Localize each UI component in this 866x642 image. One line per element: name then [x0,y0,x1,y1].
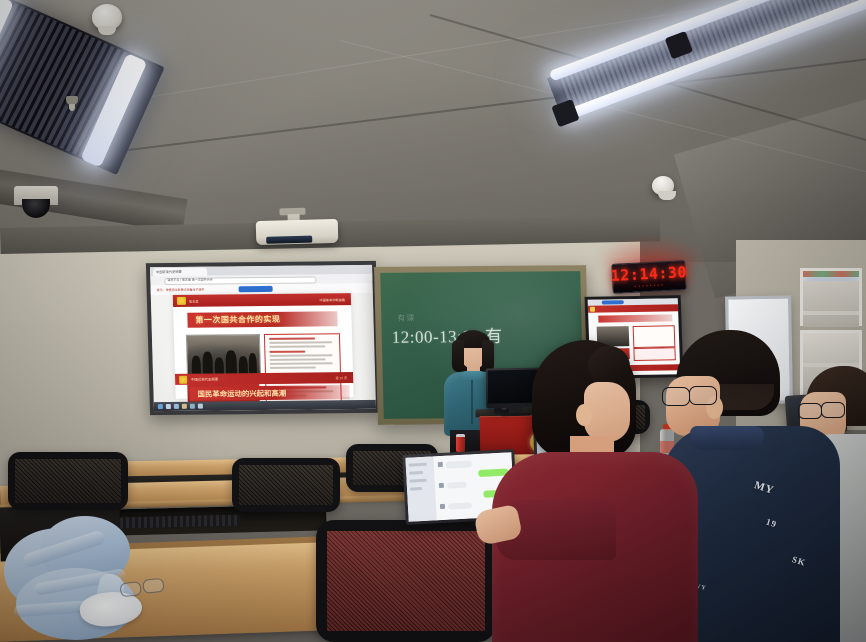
led-wall-clock: 12:14:30 ∙∙∙∙∙∙∙∙ [611,260,686,294]
browser-tab-label: 中国近现代史纲要 [156,269,182,274]
browser-notice-text: 提示：请使用全屏模式观看本节课件 [157,287,205,292]
chair[interactable] [8,452,128,510]
sprinkler-icon [66,96,78,105]
chair[interactable] [232,458,340,512]
slide-banner-left: 第五章 [189,298,199,303]
smoke-detector-icon [92,4,122,30]
jacket-on-desk [4,516,164,640]
party-emblem-icon [177,297,186,305]
dome-camera-icon [14,186,58,220]
slide-footer-left: 中国近现代史纲要 [191,376,218,381]
projection-screen[interactable]: 中国近现代史纲要 课程平台 / 第五章 第一次国共合作 提示：请使用全屏模式观看… [146,261,380,415]
projected-taskbar[interactable] [154,400,376,411]
window-trim [803,271,859,277]
slide-document: 第五章 中国革命的新道路 第一次国共合作的实现 中国国民党第一次全国代表大会会场 [173,293,354,399]
browser-url-text: 课程平台 / 第五章 第一次国共合作 [167,278,212,282]
clock-time-display: 12:14:30 [610,265,687,284]
start-lesson-button[interactable] [239,286,273,292]
slide-next-title: 国民革命运动的兴起和高潮 [189,385,349,401]
slide-banner-right: 中国革命的新道路 [319,297,345,302]
beverage-can [456,434,465,452]
clock-seconds-dots: ∙∙∙∙∙∙∙∙ [634,282,665,289]
classroom-scene: 中国近现代史纲要 课程平台 / 第五章 第一次国共合作 提示：请使用全屏模式观看… [0,0,866,642]
chair[interactable] [316,520,496,642]
smoke-detector-icon [652,176,674,195]
party-emblem-icon [179,375,187,383]
window-upper-right [800,268,862,326]
projector-icon [250,213,343,249]
slide-top-banner: 第五章 中国革命的新道路 [173,293,351,307]
slide-title: 第一次国共合作的实现 [187,311,337,328]
student-maroon-top [492,340,702,642]
slide-footer-banner: 中国近现代史纲要 第 12 页 [175,372,353,385]
projected-browser-window: 中国近现代史纲要 课程平台 / 第五章 第一次国共合作 提示：请使用全屏模式观看… [150,265,376,411]
slide-footer-right: 第 12 页 [335,375,347,380]
